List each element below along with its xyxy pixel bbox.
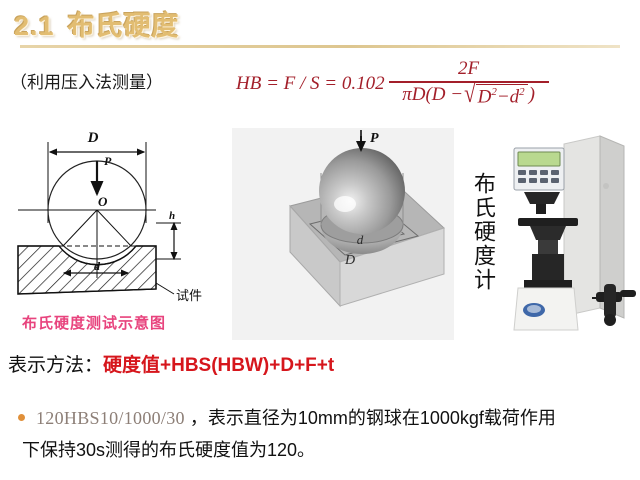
slide-root: 2.1布氏硬度 （利用压入法测量） HB = F / S = 0.102 2F … xyxy=(0,0,640,480)
radicand-base-1: D xyxy=(478,86,492,107)
label-d-3d: d xyxy=(357,232,364,247)
notation-value: 硬度值+HBS(HBW)+D+F+t xyxy=(103,355,334,376)
radicand-sup-2: 2 xyxy=(519,86,525,98)
notation-label: 表示方法： xyxy=(8,355,103,376)
formula-denominator: πD(D − √ D2−d2 ) xyxy=(396,83,541,108)
brinell-schematic-figure: D P O d xyxy=(6,128,221,333)
example-code: 120HBS10/1000/30 xyxy=(36,408,185,428)
radicand-minus: − xyxy=(497,86,510,107)
bullet-line-1: 120HBS10/1000/30 ，表示直径为10mm的钢球在1000kgf载荷… xyxy=(36,404,556,430)
brinell-formula: HB = F / S = 0.102 2F πD(D − √ D2−d2 ) xyxy=(236,58,549,108)
label-D-3d: D xyxy=(344,253,355,268)
formula-fraction: 2F πD(D − √ D2−d2 ) xyxy=(389,58,549,108)
square-root-icon: √ D2−d2 xyxy=(464,84,528,108)
bullet-line-2: 下保持30s测得的布氏硬度值为120。 xyxy=(22,436,315,462)
hardness-tester-photo xyxy=(496,130,640,342)
bullet-dot-icon xyxy=(18,414,25,421)
title-number: 2.1 xyxy=(14,11,55,41)
schematic-svg: D P O d xyxy=(6,128,221,333)
machine-vertical-label: 布氏硬度计 xyxy=(464,172,494,292)
label-P-3d: P xyxy=(370,131,379,146)
indentation-3d-svg: P d D xyxy=(232,128,454,340)
denominator-prefix: πD(D − xyxy=(402,84,463,106)
svg-text:试件: 试件 xyxy=(176,288,202,303)
radicand-base-2: d xyxy=(510,86,520,107)
indentation-3d-figure: P d D xyxy=(232,128,454,340)
notation-line: 表示方法：硬度值+HBS(HBW)+D+F+t xyxy=(8,350,334,377)
subtitle: （利用压入法测量） xyxy=(10,68,163,93)
svg-text:d: d xyxy=(94,259,101,273)
lcd-display xyxy=(518,152,560,166)
page-title: 2.1布氏硬度 xyxy=(14,4,180,43)
svg-text:P: P xyxy=(104,154,112,168)
hardness-tester-svg xyxy=(496,130,640,342)
denominator-suffix: ) xyxy=(529,84,535,106)
title-divider xyxy=(20,45,620,48)
svg-text:D: D xyxy=(87,130,99,146)
radicand: D2−d2 xyxy=(476,84,528,108)
example-line1-rest: ，表示直径为10mm的钢球在1000kgf载荷作用 xyxy=(190,408,556,428)
title-text: 布氏硬度 xyxy=(68,11,180,41)
radical-symbol: √ xyxy=(464,81,476,111)
svg-text:O: O xyxy=(98,194,108,209)
formula-lead: HB = F / S = 0.102 xyxy=(236,71,385,95)
schematic-caption: 布氏硬度测试示意图 xyxy=(22,312,166,333)
svg-text:h: h xyxy=(169,210,175,222)
